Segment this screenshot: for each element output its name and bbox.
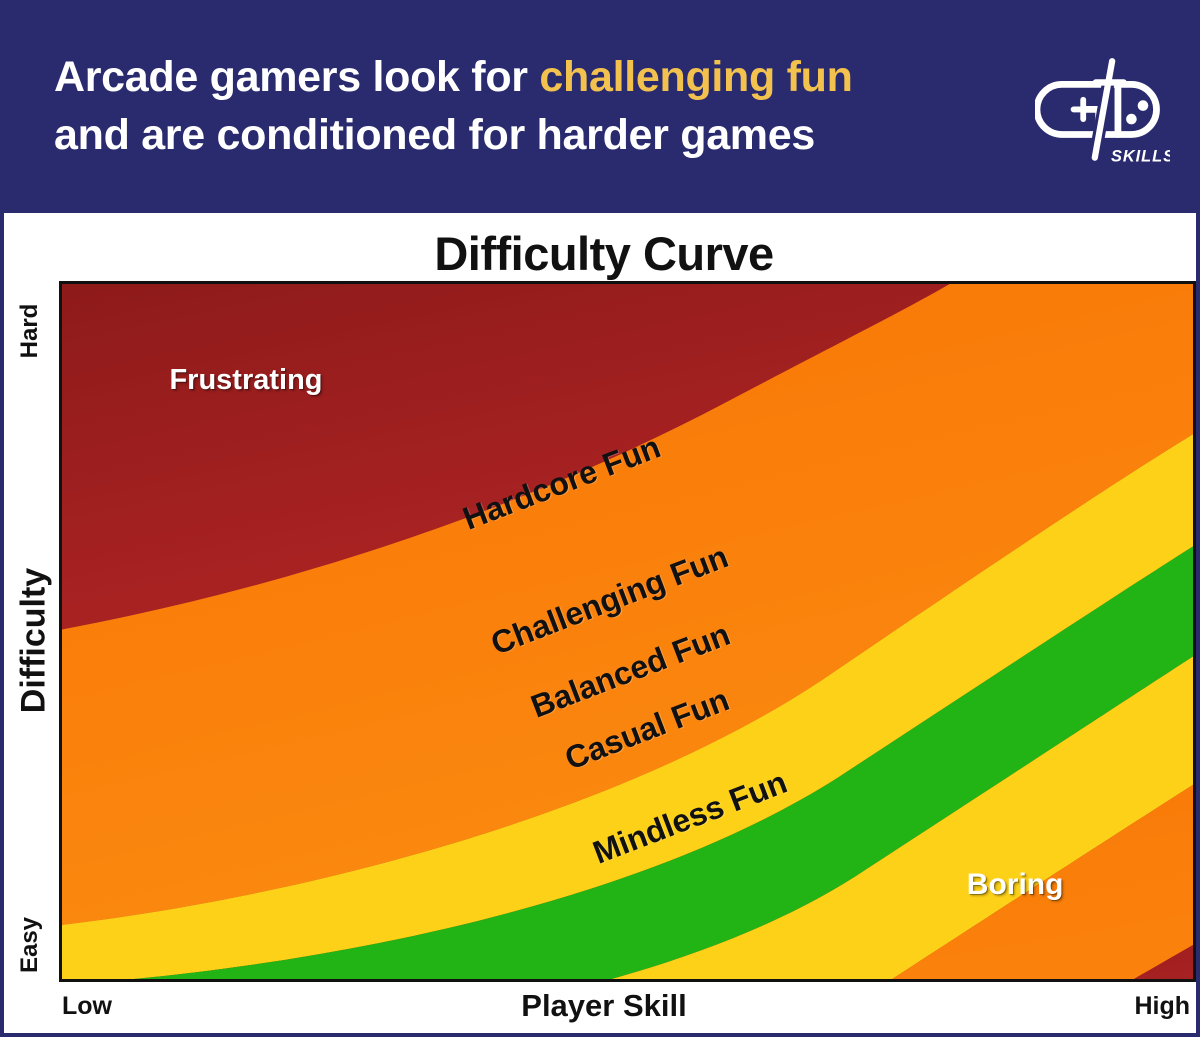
x-axis-tick-high: High	[1134, 992, 1190, 1021]
headline-line-1: Arcade gamers look for challenging fun	[54, 49, 853, 106]
logo-wordmark: SKILLS	[1111, 148, 1170, 166]
plot-area: Frustrating Hardcore Fun Challenging Fun…	[59, 281, 1196, 982]
header-banner: Arcade gamers look for challenging fun a…	[0, 0, 1200, 213]
headline-line-1-prefix: Arcade gamers look for	[54, 53, 539, 101]
headline-line-2: and are conditioned for harder games	[54, 107, 853, 164]
y-axis: Hard Difficulty Easy	[4, 281, 59, 982]
y-axis-tick-hard: Hard	[16, 291, 44, 371]
x-axis: Low Player Skill High	[4, 988, 1200, 1034]
chart-title: Difficulty Curve	[4, 226, 1200, 281]
gd-skills-logo-icon: SKILLS	[1035, 40, 1170, 175]
difficulty-bands-svg	[62, 284, 1193, 979]
x-axis-title: Player Skill	[4, 988, 1200, 1024]
headline-highlight: challenging fun	[539, 53, 852, 101]
y-axis-title: Difficulty	[15, 551, 54, 731]
chart-card: Difficulty Curve Hard Difficulty Easy	[0, 213, 1200, 1037]
y-axis-tick-easy: Easy	[16, 905, 44, 985]
header-headline: Arcade gamers look for challenging fun a…	[54, 49, 853, 163]
